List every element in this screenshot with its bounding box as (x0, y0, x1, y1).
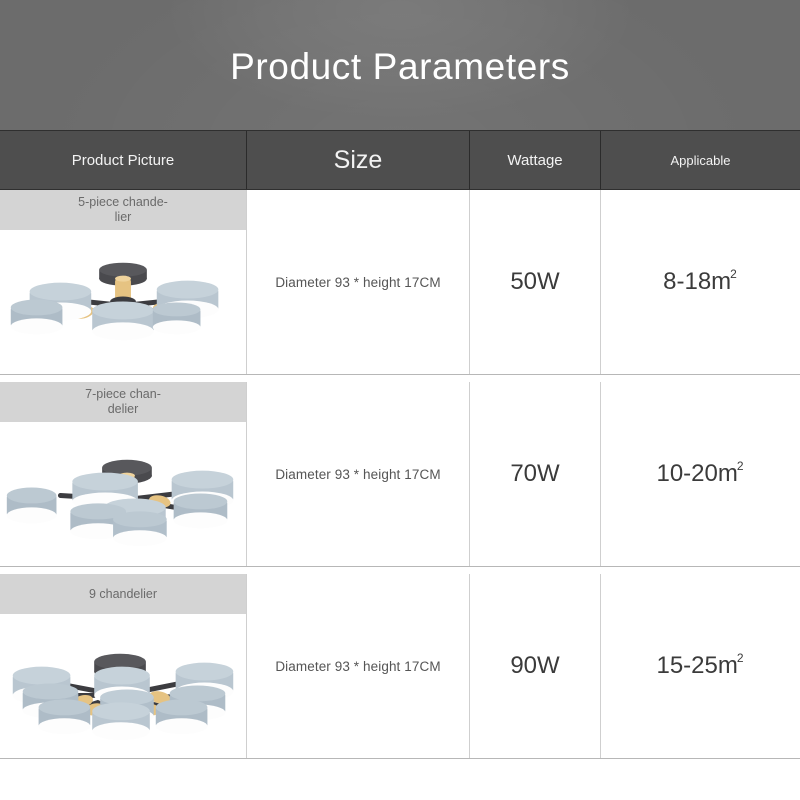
chandelier-9-icon (0, 614, 247, 758)
wattage-value: 90W (510, 652, 559, 680)
applicable-area: 10-20m (656, 460, 737, 487)
applicable-superscript: 2 (737, 651, 744, 665)
product-name-label: 9 chandelier (0, 574, 247, 614)
table-row: 9 chandelier (0, 574, 800, 759)
column-header-size: Size (247, 131, 470, 189)
product-parameters-page: Product Parameters Product Picture Size … (0, 0, 800, 800)
chandelier-7-illustration (0, 422, 247, 566)
product-picture-cell: 7-piece chan- delier (0, 382, 247, 566)
chandelier-5-icon (0, 230, 247, 374)
size-cell: Diameter 93 * height 17CM (247, 382, 470, 566)
applicable-cell: 15-25m2 (601, 574, 800, 758)
product-picture-cell: 5-piece chande- lier (0, 190, 247, 374)
applicable-superscript: 2 (730, 267, 737, 281)
lamp-shade (92, 302, 154, 341)
table-header-row: Product Picture Size Wattage Applicable (0, 130, 800, 190)
lamp-shade (92, 702, 150, 740)
lamp-shade (155, 699, 207, 734)
applicable-cell: 8-18m2 (601, 190, 800, 374)
product-name-label: 7-piece chan- delier (0, 382, 247, 422)
applicable-value: 15-25m2 (656, 652, 744, 680)
column-header-product-picture: Product Picture (0, 131, 247, 189)
size-value: Diameter 93 * height 17CM (275, 659, 440, 674)
lamp-shade (152, 302, 200, 334)
applicable-area: 8-18m (663, 268, 731, 295)
row-separator (0, 375, 800, 382)
page-title: Product Parameters (230, 48, 570, 85)
applicable-superscript: 2 (737, 459, 744, 473)
chandelier-9-illustration (0, 614, 247, 758)
applicable-value: 10-20m2 (656, 460, 744, 488)
product-name-label: 5-piece chande- lier (0, 190, 247, 230)
size-value: Diameter 93 * height 17CM (275, 467, 440, 482)
row-separator (0, 567, 800, 574)
wattage-cell: 90W (470, 574, 601, 758)
lamp-shade (6, 488, 56, 524)
product-picture-cell: 9 chandelier (0, 574, 247, 758)
size-value: Diameter 93 * height 17CM (275, 275, 440, 290)
applicable-value: 8-18m2 (663, 268, 738, 296)
table-row: 5-piece chande- lier (0, 190, 800, 375)
column-header-wattage: Wattage (470, 131, 601, 189)
page-title-banner: Product Parameters (0, 0, 800, 130)
applicable-area: 15-25m (656, 652, 737, 679)
lamp-shade (10, 300, 62, 335)
table-row: 7-piece chan- delier (0, 382, 800, 567)
chandelier-7-icon (0, 422, 247, 566)
wattage-cell: 50W (470, 190, 601, 374)
size-cell: Diameter 93 * height 17CM (247, 574, 470, 758)
column-header-applicable: Applicable (601, 131, 800, 189)
size-cell: Diameter 93 * height 17CM (247, 190, 470, 374)
applicable-cell: 10-20m2 (601, 382, 800, 566)
parameters-table: Product Picture Size Wattage Applicable … (0, 130, 800, 759)
lamp-shade (173, 494, 227, 529)
lamp-shade (38, 699, 90, 734)
lamp-shade (113, 511, 167, 546)
wattage-value: 70W (510, 460, 559, 488)
wattage-value: 50W (510, 268, 559, 296)
chandelier-5-illustration (0, 230, 247, 374)
wattage-cell: 70W (470, 382, 601, 566)
